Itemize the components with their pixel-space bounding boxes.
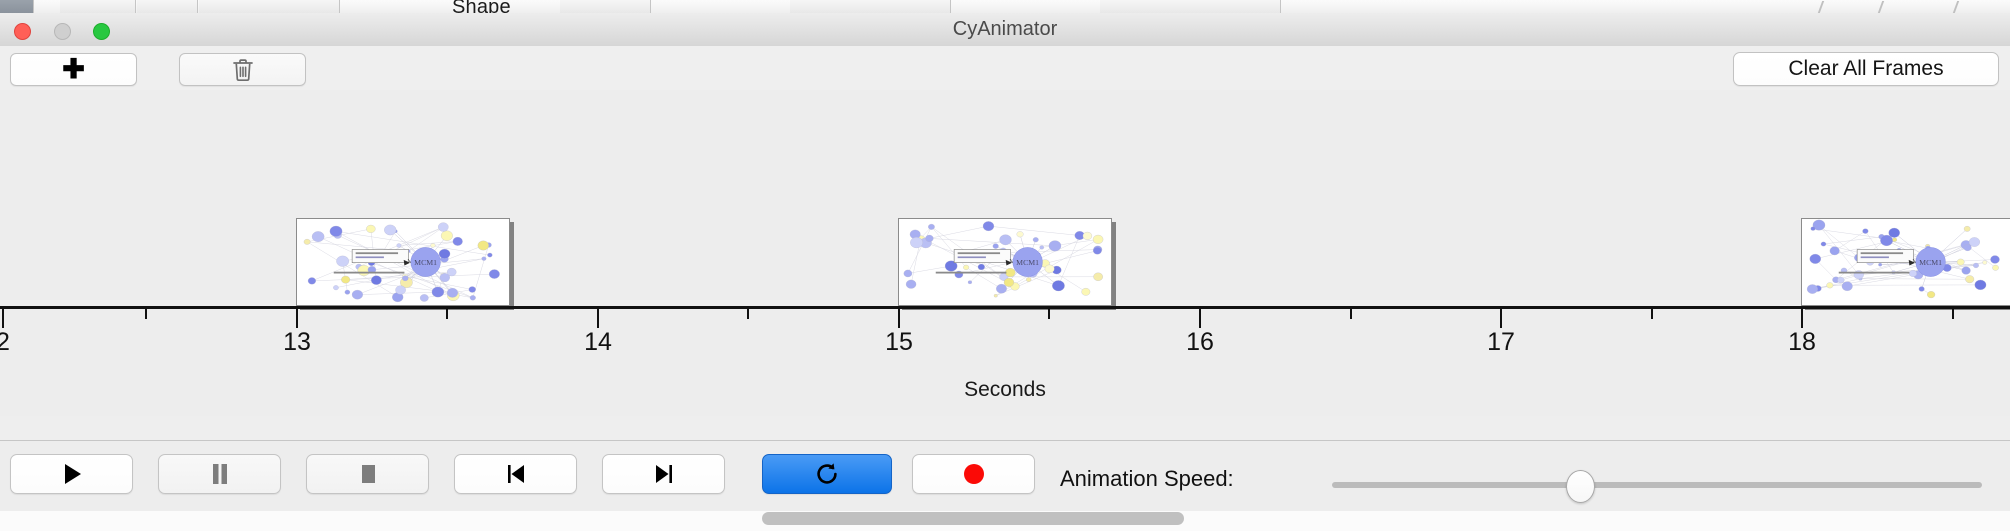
toolbar: ✚ Clear All Frames — [0, 46, 2010, 91]
record-button[interactable] — [912, 454, 1035, 494]
axis-tick — [1199, 309, 1201, 328]
next-frame-button[interactable] — [602, 454, 725, 494]
pause-icon — [210, 463, 230, 485]
axis-tick-label: 18 — [1761, 328, 1843, 357]
bg-divider-2 — [1878, 1, 1884, 13]
add-frame-button[interactable]: ✚ — [10, 53, 137, 86]
axis-tick — [2, 309, 4, 328]
animation-speed-label: Animation Speed: — [1060, 466, 1234, 492]
axis-tick — [898, 309, 900, 328]
record-icon — [962, 462, 986, 486]
axis-tick — [1500, 309, 1502, 328]
timeline-panel: MCM1MCM1MCM1 2131415161718 Seconds — [0, 90, 2010, 416]
network-graph: MCM1 — [899, 219, 1111, 305]
play-icon — [62, 463, 82, 485]
axis-tick-label: 17 — [1460, 328, 1542, 357]
timeline-frame[interactable]: MCM1 — [1801, 218, 2010, 306]
plus-icon: ✚ — [62, 56, 85, 83]
background-window-strip: Shape — [0, 0, 2010, 14]
animation-speed-slider-thumb[interactable] — [1566, 470, 1595, 503]
axis-tick-label: 13 — [256, 328, 338, 357]
transport-bar: Animation Speed: — [0, 440, 2010, 511]
delete-frame-button[interactable] — [179, 53, 306, 86]
axis-tick — [1651, 309, 1653, 319]
skip-previous-icon — [505, 463, 527, 485]
loop-icon — [815, 462, 839, 486]
axis-tick-label: 16 — [1159, 328, 1241, 357]
pause-button[interactable] — [158, 454, 281, 494]
axis-tick — [446, 309, 448, 319]
axis-tick — [1952, 309, 1954, 319]
previous-frame-button[interactable] — [454, 454, 577, 494]
axis-title: Seconds — [0, 378, 2010, 402]
axis-tick — [1048, 309, 1050, 319]
clear-all-frames-button[interactable]: Clear All Frames — [1733, 52, 1999, 86]
network-graph: MCM1 — [297, 219, 509, 305]
network-graph: MCM1 — [1802, 219, 2010, 305]
axis-tick — [597, 309, 599, 328]
bg-tab-c — [199, 0, 340, 13]
axis-tick — [747, 309, 749, 319]
axis-tick — [1801, 309, 1803, 328]
stop-icon — [358, 463, 378, 485]
frame-track[interactable]: MCM1MCM1MCM1 — [0, 90, 2010, 306]
stop-button[interactable] — [306, 454, 429, 494]
bg-divider-3 — [1953, 1, 1959, 13]
bg-tab-d — [560, 0, 651, 13]
window-title: CyAnimator — [0, 13, 2010, 46]
svg-text:MCM1: MCM1 — [414, 258, 437, 267]
animation-speed-slider[interactable] — [1332, 482, 1982, 488]
play-button[interactable] — [10, 454, 133, 494]
timeline-frame[interactable]: MCM1 — [898, 218, 1112, 306]
trash-icon — [232, 58, 254, 82]
title-bar: CyAnimator — [0, 13, 2010, 47]
svg-text:MCM1: MCM1 — [1016, 258, 1039, 267]
axis-tick-label: 14 — [557, 328, 639, 357]
loop-button[interactable] — [762, 454, 892, 494]
bg-divider-1 — [1818, 1, 1824, 13]
skip-next-icon — [653, 463, 675, 485]
bg-tab-b — [137, 0, 198, 13]
bg-tab-a — [60, 0, 136, 13]
bg-tab-dark — [0, 0, 34, 13]
axis-tick-label: 15 — [858, 328, 940, 357]
timeline-scrollbar-thumb[interactable] — [762, 512, 1184, 525]
axis-tick-label: 2 — [0, 328, 44, 357]
clear-all-frames-label: Clear All Frames — [1788, 57, 1943, 81]
timeline-axis-line — [0, 306, 2010, 309]
svg-text:MCM1: MCM1 — [1919, 258, 1942, 267]
bg-tab-f — [1100, 0, 1281, 13]
axis-tick — [1350, 309, 1352, 319]
axis-tick — [296, 309, 298, 328]
background-window-text: Shape — [452, 0, 511, 14]
bg-tab-e — [790, 0, 951, 13]
axis-tick — [145, 309, 147, 319]
timeline-frame[interactable]: MCM1 — [296, 218, 510, 306]
